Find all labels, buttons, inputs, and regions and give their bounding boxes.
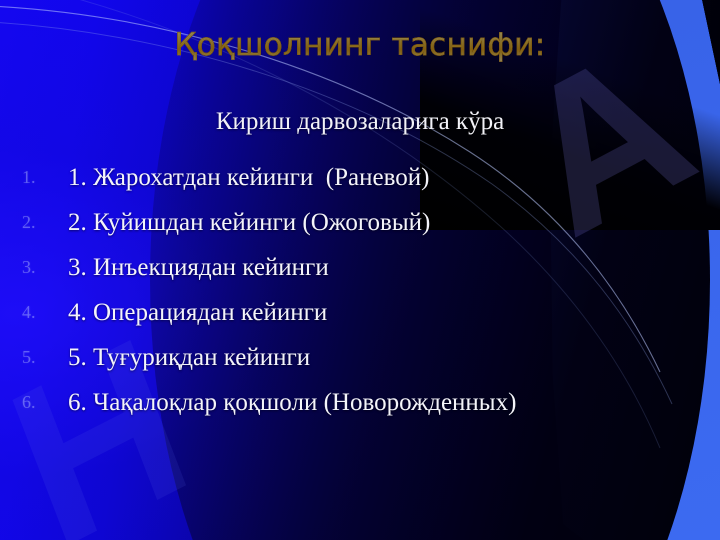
list-item-marker: 1. [22,167,56,188]
list-item-marker: 4. [22,302,56,323]
list-item-label: 4. Операциядан кейинги [68,299,327,327]
list-item: 5. 5. Туғуриқдан кейинги [0,335,720,380]
list-item: 4. 4. Операциядан кейинги [0,290,720,335]
slide-subtitle: Кириш дарвозаларига кўра [0,108,720,136]
page-title: Қоқшолнинг таснифи: [0,27,720,63]
list-item-label: 5. Туғуриқдан кейинги [68,344,310,372]
list-item-marker: 2. [22,212,56,233]
list-item: 6. 6. Чақалоқлар қоқшоли (Новорожденных) [0,380,720,425]
list-item-marker: 6. [22,392,56,413]
list-item: 2. 2. Куйишдан кейинги (Ожоговый) [0,200,720,245]
list-item-label: 2. Куйишдан кейинги (Ожоговый) [68,209,430,237]
list-item-marker: 5. [22,347,56,368]
slide-canvas: A Н Қоқшолнинг таснифи: Кириш дарвозалар… [0,0,720,540]
list-item-label: 6. Чақалоқлар қоқшоли (Новорожденных) [68,389,516,417]
list-item-label: 1. Жарохатдан кейинги (Раневой) [68,164,429,192]
slide-content: Қоқшолнинг таснифи: Кириш дарвозаларига … [0,0,720,540]
list-item-label: 3. Инъекциядан кейинги [68,254,329,282]
list-item-marker: 3. [22,257,56,278]
classification-list: 1. 1. Жарохатдан кейинги (Раневой) 2. 2.… [0,155,720,425]
list-item: 1. 1. Жарохатдан кейинги (Раневой) [0,155,720,200]
list-item: 3. 3. Инъекциядан кейинги [0,245,720,290]
